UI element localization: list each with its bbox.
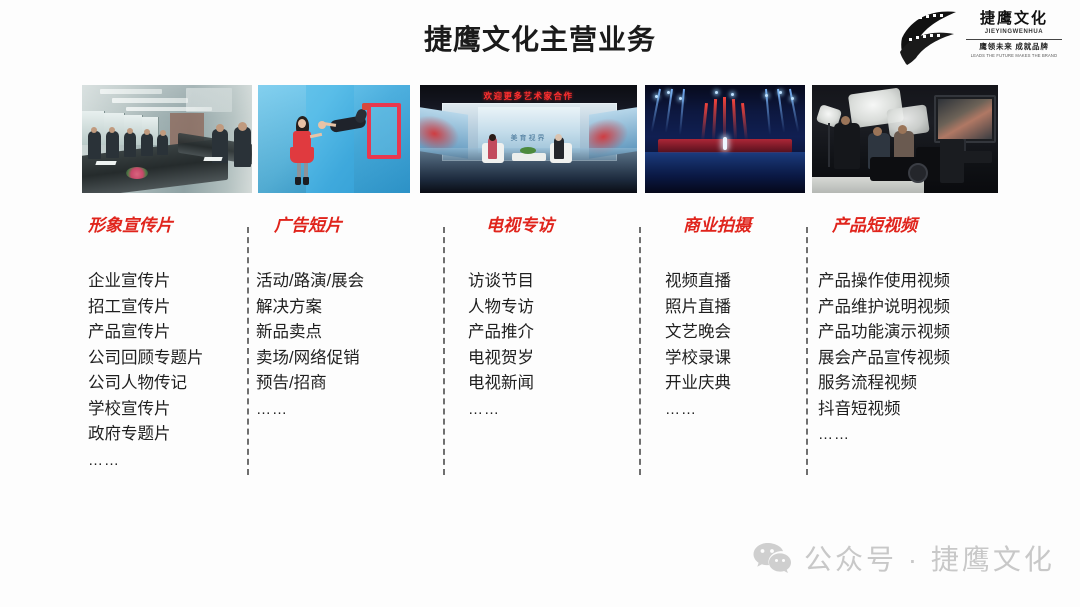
list-item: 人物专访 (468, 295, 628, 321)
column-item-list: 产品操作使用视频 产品维护说明视频 产品功能演示视频 展会产品宣传视频 服务流程… (818, 269, 1008, 448)
photo-tv-interview-set: 欢迎更多艺术家合作 美育视界 (420, 85, 637, 193)
photo-concert-stage (645, 85, 805, 193)
list-item: 新品卖点 (256, 320, 431, 346)
list-item: 卖场/网络促销 (256, 346, 431, 372)
photo-studio-red-dress (258, 85, 410, 193)
list-item-ellipsis: …… (256, 397, 431, 423)
list-item: 电视贺岁 (468, 346, 628, 372)
column-item-list: 视频直播 照片直播 文艺晚会 学校录课 开业庆典 …… (665, 269, 810, 422)
logo-slogan-cn: 鹰领未来 成就品牌 (964, 42, 1064, 52)
list-item: 预告/招商 (256, 371, 431, 397)
column-divider-1 (247, 227, 249, 475)
list-item-ellipsis: …… (468, 397, 628, 423)
watermark-text: 公众号 · 捷鹰文化 (804, 538, 1055, 578)
column-heading: 电视专访 (468, 215, 628, 237)
list-item-ellipsis: …… (818, 422, 1008, 448)
wechat-icon (752, 541, 792, 575)
list-item: 产品操作使用视频 (818, 269, 1008, 295)
column-item-list: 访谈节目 人物专访 产品推介 电视贺岁 电视新闻 …… (468, 269, 628, 422)
list-item: 公司人物传记 (88, 371, 238, 397)
column-heading: 商业拍摄 (665, 215, 810, 237)
eagle-film-strip-icon (898, 8, 960, 66)
list-item: 企业宣传片 (88, 269, 238, 295)
photo-film-production-set (812, 85, 998, 193)
page-header: 捷鹰文化主营业务 捷鹰文化 JIEYINGWENHUA 鹰领未来 成就品牌 LE… (0, 0, 1080, 78)
column-heading: 产品短视频 (818, 215, 1008, 237)
list-item: 视频直播 (665, 269, 810, 295)
list-item: 服务流程视频 (818, 371, 1008, 397)
list-item: 开业庆典 (665, 371, 810, 397)
column-item-list: 活动/路演/展会 解决方案 新品卖点 卖场/网络促销 预告/招商 …… (256, 269, 431, 422)
company-logo: 捷鹰文化 JIEYINGWENHUA 鹰领未来 成就品牌 LEADS THE F… (898, 6, 1066, 68)
column-item-list: 企业宣传片 招工宣传片 产品宣传片 公司回顾专题片 公司人物传记 学校宣传片 政… (88, 269, 238, 473)
logo-slogan-en: LEADS THE FUTURE MAKES THE BRAND (967, 52, 1062, 59)
column-product-short-video: 产品短视频 产品操作使用视频 产品维护说明视频 产品功能演示视频 展会产品宣传视… (818, 215, 1008, 448)
column-commercial-shooting: 商业拍摄 视频直播 照片直播 文艺晚会 学校录课 开业庆典 …… (665, 215, 810, 422)
column-image-promo-film: 形象宣传片 企业宣传片 招工宣传片 产品宣传片 公司回顾专题片 公司人物传记 学… (88, 215, 238, 473)
list-item: 学校录课 (665, 346, 810, 372)
column-ad-short-film: 广告短片 活动/路演/展会 解决方案 新品卖点 卖场/网络促销 预告/招商 …… (256, 215, 431, 422)
logo-name-cn: 捷鹰文化 (964, 10, 1064, 27)
photo-meeting-room (82, 85, 252, 193)
list-item: 电视新闻 (468, 371, 628, 397)
list-item: 产品宣传片 (88, 320, 238, 346)
list-item: 解决方案 (256, 295, 431, 321)
column-divider-3 (639, 227, 641, 475)
wechat-watermark: 公众号 · 捷鹰文化 (752, 538, 1055, 578)
photo-strip: 欢迎更多艺术家合作 美育视界 (0, 85, 1080, 193)
tv-banner-text: 欢迎更多艺术家合作 (483, 90, 573, 102)
list-item: 招工宣传片 (88, 295, 238, 321)
list-item: 抖音短视频 (818, 397, 1008, 423)
list-item-ellipsis: …… (88, 448, 238, 474)
list-item: 照片直播 (665, 295, 810, 321)
service-columns: 形象宣传片 企业宣传片 招工宣传片 产品宣传片 公司回顾专题片 公司人物传记 学… (0, 215, 1080, 495)
logo-name-pinyin: JIEYINGWENHUA (964, 28, 1064, 37)
logo-text-block: 捷鹰文化 JIEYINGWENHUA 鹰领未来 成就品牌 LEADS THE F… (964, 10, 1064, 59)
list-item: 访谈节目 (468, 269, 628, 295)
column-heading: 广告短片 (256, 215, 431, 237)
list-item: 公司回顾专题片 (88, 346, 238, 372)
list-item: 展会产品宣传视频 (818, 346, 1008, 372)
column-tv-interview: 电视专访 访谈节目 人物专访 产品推介 电视贺岁 电视新闻 …… (468, 215, 628, 422)
tv-mid-screen-text: 美育视界 (511, 133, 547, 143)
list-item: 活动/路演/展会 (256, 269, 431, 295)
column-heading: 形象宣传片 (88, 215, 238, 237)
list-item: 产品推介 (468, 320, 628, 346)
list-item: 学校宣传片 (88, 397, 238, 423)
list-item: 文艺晚会 (665, 320, 810, 346)
logo-divider (966, 39, 1062, 40)
column-divider-2 (443, 227, 445, 475)
list-item: 产品功能演示视频 (818, 320, 1008, 346)
list-item-ellipsis: …… (665, 397, 810, 423)
list-item: 产品维护说明视频 (818, 295, 1008, 321)
list-item: 政府专题片 (88, 422, 238, 448)
